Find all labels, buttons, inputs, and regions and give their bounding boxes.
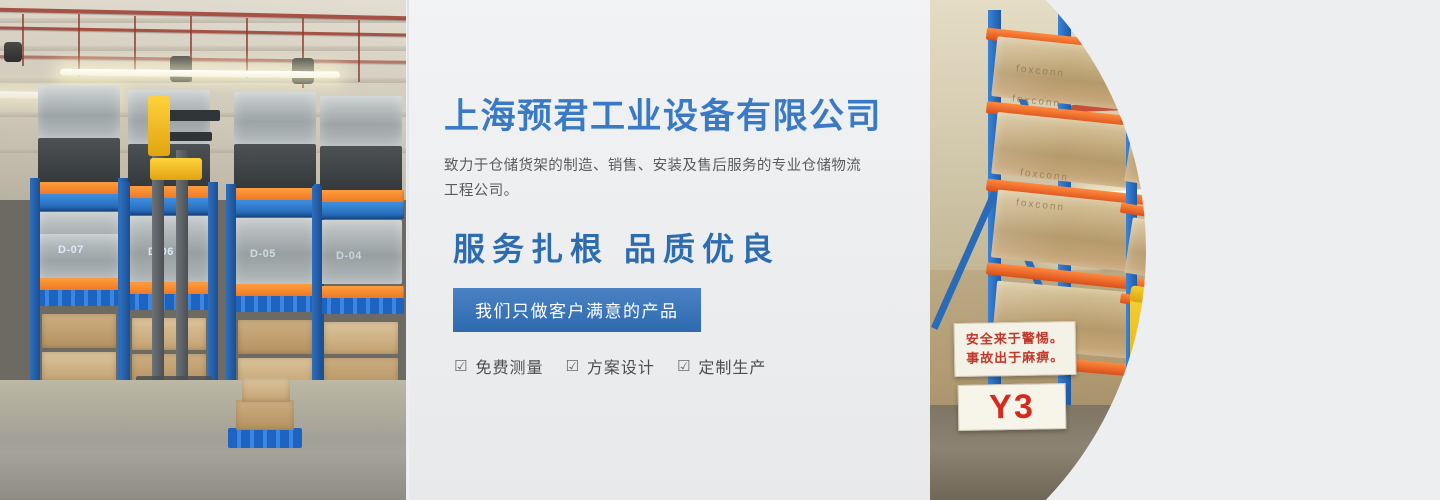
forklift-body <box>148 96 170 156</box>
feature-item: ☑ 定制生产 <box>677 354 766 378</box>
warehouse-photo-left: D-07 D-06 <box>0 0 406 500</box>
check-icon: ☑ <box>454 359 468 374</box>
rack-label: D-05 <box>250 248 276 260</box>
safety-line: 事故出于麻痹。 <box>966 348 1064 369</box>
aisle-marker-text: Y3 <box>989 387 1035 427</box>
check-icon: ☑ <box>677 359 691 374</box>
hero-banner: D-07 D-06 <box>0 0 1440 500</box>
warehouse-photo-right: foxconn foxconn foxconn foxconn <box>930 0 1440 500</box>
aisle-marker-sign-edge: Y3 <box>1386 372 1440 418</box>
rack-label: D-07 <box>58 244 84 256</box>
feature-label: 方案设计 <box>587 354 655 378</box>
check-icon: ☑ <box>565 359 579 374</box>
feature-item: ☑ 免费测量 <box>454 354 543 378</box>
safety-sign: 安全来于警惕。 事故出于麻痹。 <box>954 321 1077 377</box>
blue-pallet <box>228 428 302 448</box>
company-name: 上海预君工业设备有限公司 <box>444 96 914 137</box>
feature-label: 免费测量 <box>475 354 543 378</box>
banner-copy: 上海预君工业设备有限公司 致力于仓储货架的制造、销售、安装及售后服务的专业仓储物… <box>444 96 914 378</box>
tagline: 致力于仓储货架的制造、销售、安装及售后服务的专业仓储物流工程公司。 <box>444 154 864 204</box>
safety-line: 安全来于警惕。 <box>966 329 1064 350</box>
photo-divider <box>407 0 409 500</box>
aisle-marker-text: Y3 <box>1401 376 1440 415</box>
feature-label: 定制生产 <box>698 354 766 378</box>
rack-label: D-04 <box>336 250 362 262</box>
forklift-driver <box>1152 338 1172 358</box>
cta-button[interactable]: 我们只做客户满意的产品 <box>453 288 701 332</box>
feature-item: ☑ 方案设计 <box>565 354 654 378</box>
slogan: 服务扎根 品质优良 <box>444 224 914 270</box>
feature-list: ☑ 免费测量 ☑ 方案设计 ☑ 定制生产 <box>454 354 914 378</box>
aisle-marker-sign: Y3 <box>958 383 1067 431</box>
